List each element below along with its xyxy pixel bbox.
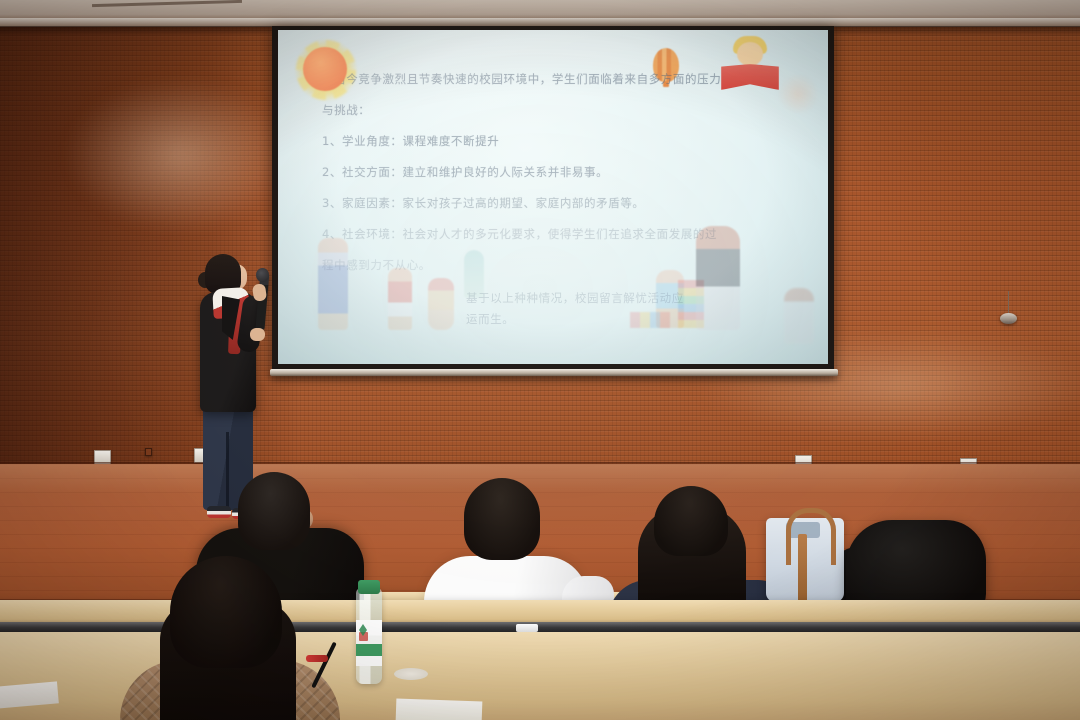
slide-bullet-3: 3、家庭因素：家长对孩子过高的期望、家庭内部的矛盾等。 [322,188,762,219]
tote-bag-strap [786,508,836,565]
screen-roller-bar [270,369,838,376]
sun-core-icon [303,47,347,91]
wall-speaker [1000,313,1017,324]
microphone-head-icon [256,268,269,282]
slide-bullet-5: 程中感到力不从心。 [322,250,762,281]
red-marker[interactable] [306,655,328,662]
slide-text-block: 在当今竞争激烈且节奏快速的校园环境中，学生们面临着来自多方面的压力 与挑战： 1… [322,64,762,281]
wall-light-reflection [60,75,300,235]
slide-bullet-1: 1、学业角度：课程难度不断提升 [322,126,762,157]
decor-glow [776,74,820,114]
slide-paragraph-line-1: 在当今竞争激烈且节奏快速的校园环境中，学生们面临着来自多方面的压力 [322,64,762,95]
water-bottle-label [356,620,382,666]
child-head-illustration [737,42,763,66]
slide-closing-block: 基于以上种种情况，校园留言解忧活动应 运而生。 [466,288,706,330]
slide-paragraph-line-2: 与挑战： [322,95,762,126]
slide-closing-line-1: 基于以上种种情况，校园留言解忧活动应 [466,288,706,309]
coaster[interactable] [394,668,428,680]
projection-screen: 在当今竞争激烈且节奏快速的校园环境中，学生们面临着来自多方面的压力 与挑战： 1… [278,30,828,364]
slide-closing-line-2: 运而生。 [466,309,706,330]
paper-sheet-center[interactable] [396,699,483,720]
slide-bullet-2: 2、社交方面：建立和维护良好的人际关系并非易事。 [322,157,762,188]
presenter-hand-lower [250,328,265,341]
white-eraser[interactable] [516,624,538,632]
presenter-hand-upper [252,283,267,302]
figure-right-illustration [784,288,814,344]
slide-bullet-4: 4、社会环境：社会对人才的多元化要求，使得学生们在追求全面发展的过 [322,219,762,250]
presenter-shoe-left [207,506,231,518]
attendee-head [464,478,540,560]
family-child2-illustration [428,278,454,330]
tote-bag-strap-front [798,534,807,606]
attendee-head [238,472,310,550]
lecture-hall-photo: 在当今竞争激烈且节奏快速的校园环境中，学生们面临着来自多方面的压力 与挑战： 1… [0,0,1080,720]
attendee-head [654,486,728,556]
water-bottle-cap [358,580,380,594]
attendee-head [170,556,282,668]
